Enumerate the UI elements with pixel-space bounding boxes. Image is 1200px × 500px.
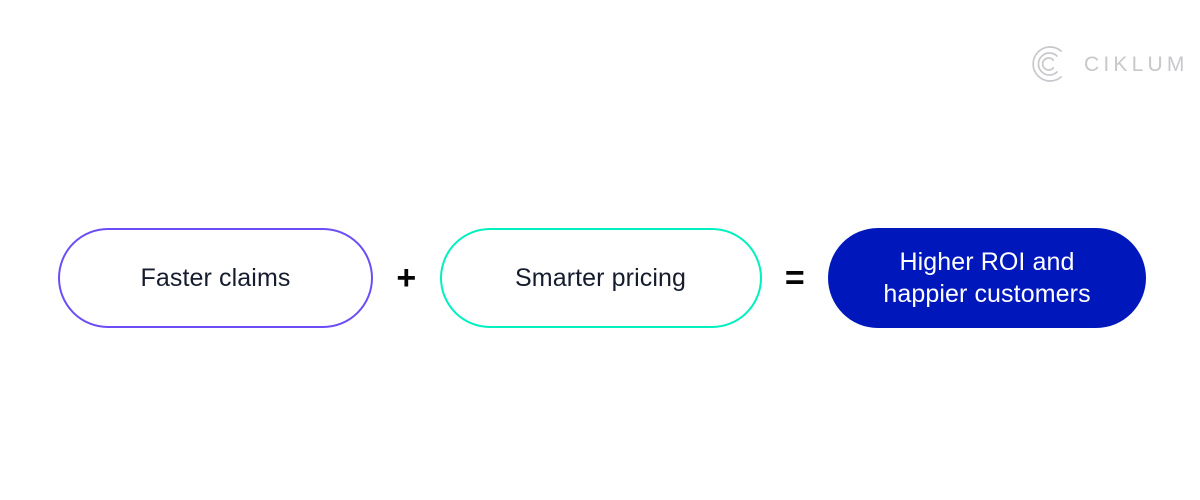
pill-smarter-pricing-label: Smarter pricing (515, 262, 686, 294)
plus-operator: + (389, 261, 423, 295)
brand-wordmark: CIKLUM (1084, 54, 1189, 75)
pill-smarter-pricing[interactable]: Smarter pricing (440, 228, 762, 328)
pill-higher-roi-outcome-label: Higher ROI and happier customers (883, 246, 1090, 310)
pill-higher-roi-outcome[interactable]: Higher ROI and happier customers (828, 228, 1146, 328)
equals-operator: = (778, 261, 812, 295)
pill-faster-claims[interactable]: Faster claims (58, 228, 373, 328)
brand-logo: CIKLUM (1028, 43, 1189, 85)
ciklum-concentric-c-icon (1028, 43, 1070, 85)
equation-row: Faster claims + Smarter pricing = Higher… (58, 228, 1146, 328)
pill-faster-claims-label: Faster claims (141, 262, 291, 294)
